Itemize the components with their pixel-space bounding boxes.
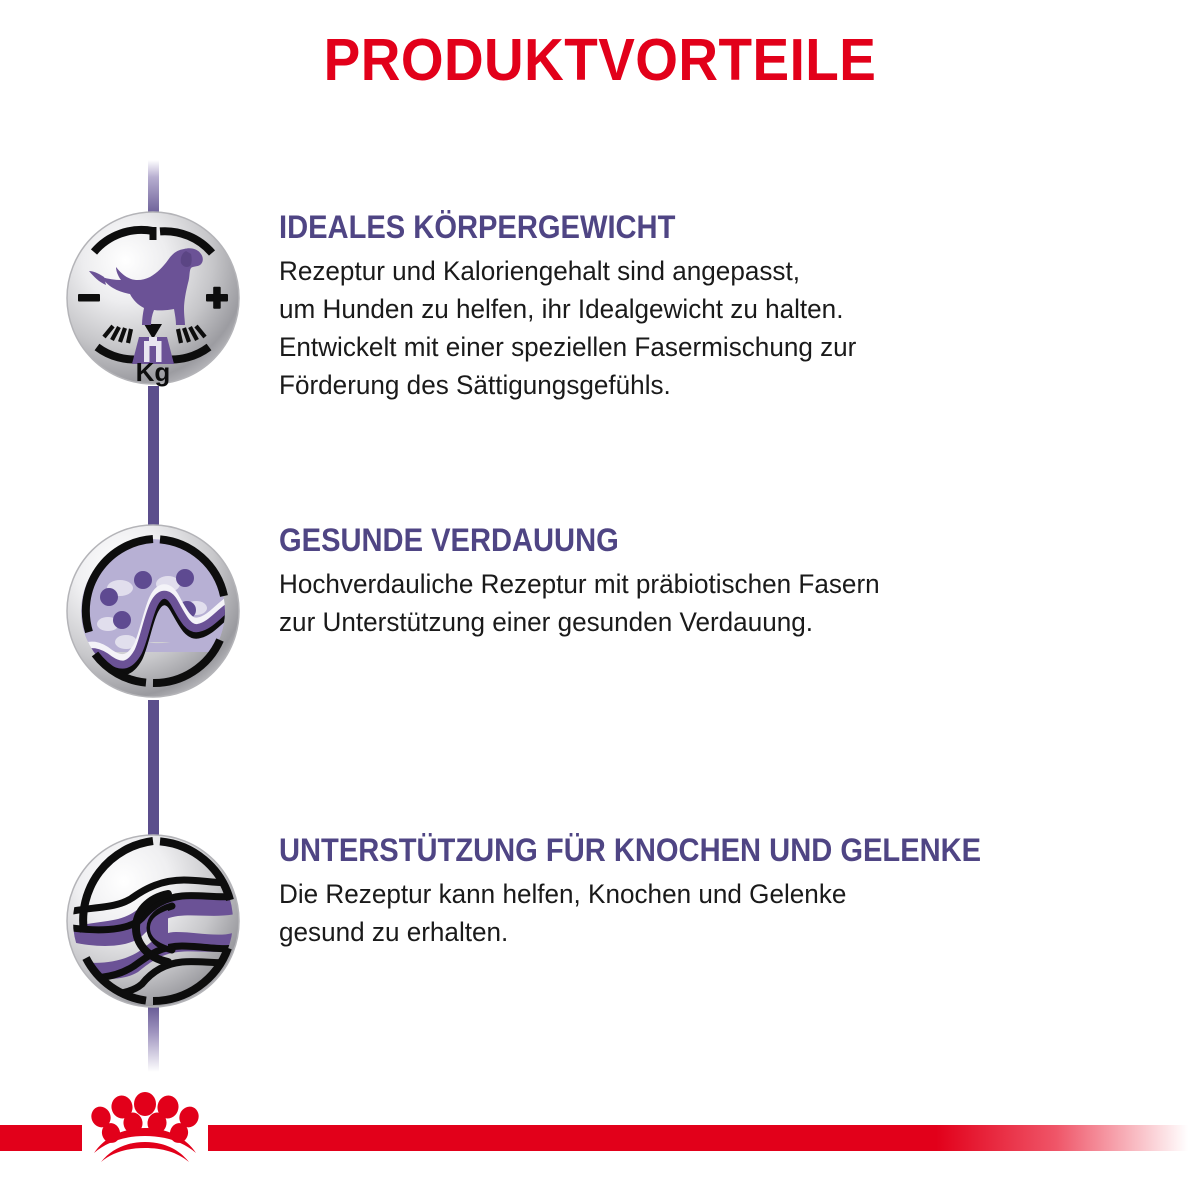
benefit-body: Rezeptur und Kaloriengehalt sind angepas… [279, 252, 1166, 404]
dog-weight-scale-icon: Kg [64, 209, 242, 387]
page-title: PRODUKTVORTEILE [42, 26, 1158, 94]
benefit-text-block: GESUNDE VERDAUUNG Hochverdauliche Rezept… [279, 522, 1179, 641]
timeline-connector-segment-1 [148, 386, 159, 532]
bone-joint-support-icon [64, 832, 242, 1010]
benefit-body: Hochverdauliche Rezeptur mit präbiotisch… [279, 565, 1166, 641]
benefit-text-block: UNTERSTÜTZUNG FÜR KNOCHEN UND GELENKE Di… [279, 832, 1179, 951]
benefit-heading: GESUNDE VERDAUUNG [279, 522, 1098, 559]
benefit-text-block: IDEALES KÖRPERGEWICHT Rezeptur und Kalor… [279, 209, 1179, 404]
healthy-digestion-icon [64, 522, 242, 700]
benefit-heading: UNTERSTÜTZUNG FÜR KNOCHEN UND GELENKE [279, 832, 1098, 869]
timeline-connector-bottom [148, 1000, 159, 1072]
product-benefits-infographic: PRODUKTVORTEILE [0, 0, 1200, 1200]
timeline-connector-segment-2 [148, 700, 159, 842]
benefit-heading: IDEALES KÖRPERGEWICHT [279, 209, 1098, 246]
royal-canin-crown-logo [84, 1091, 206, 1163]
icon-kg-label: Kg [136, 357, 171, 387]
benefit-body: Die Rezeptur kann helfen, Knochen und Ge… [279, 875, 1166, 951]
